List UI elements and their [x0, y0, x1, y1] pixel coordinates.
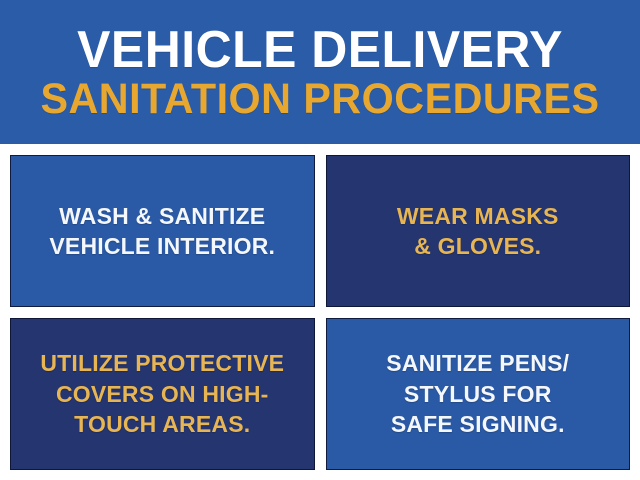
procedure-panel-label: UTILIZE PROTECTIVE COVERS ON HIGH- TOUCH… — [40, 348, 284, 439]
poster-title-primary: VEHICLE DELIVERY — [20, 24, 619, 76]
poster-title-secondary: SANITATION PROCEDURES — [20, 78, 619, 121]
procedure-panel-label: WASH & SANITIZE VEHICLE INTERIOR. — [49, 201, 275, 262]
procedure-panel-grid: WASH & SANITIZE VEHICLE INTERIOR. WEAR M… — [0, 144, 640, 480]
procedure-panel-label: WEAR MASKS & GLOVES. — [397, 201, 559, 262]
procedure-panel-wear-masks-gloves: WEAR MASKS & GLOVES. — [326, 155, 631, 307]
sanitation-procedures-poster: VEHICLE DELIVERY SANITATION PROCEDURES W… — [0, 0, 640, 480]
procedure-panel-wash-sanitize-interior: WASH & SANITIZE VEHICLE INTERIOR. — [10, 155, 315, 307]
poster-header: VEHICLE DELIVERY SANITATION PROCEDURES — [0, 0, 640, 144]
procedure-panel-protective-covers: UTILIZE PROTECTIVE COVERS ON HIGH- TOUCH… — [10, 318, 315, 470]
procedure-panel-sanitize-pens-stylus: SANITIZE PENS/ STYLUS FOR SAFE SIGNING. — [326, 318, 631, 470]
procedure-panel-label: SANITIZE PENS/ STYLUS FOR SAFE SIGNING. — [386, 348, 569, 439]
